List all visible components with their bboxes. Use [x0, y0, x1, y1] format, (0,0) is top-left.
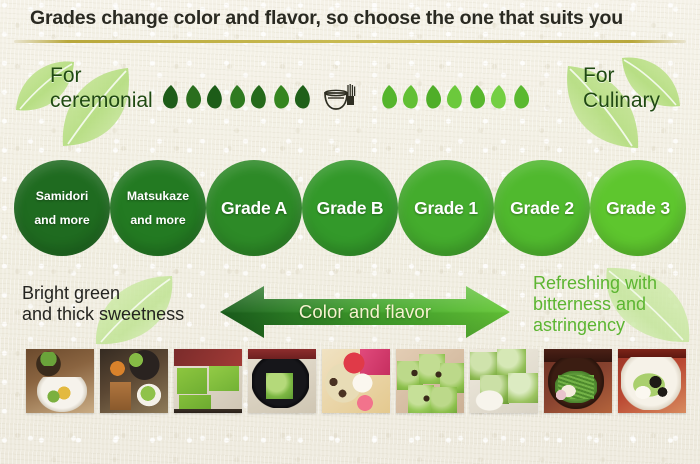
photo-detail — [634, 385, 652, 400]
tea-leaf-icon — [378, 84, 400, 110]
photo-detail — [338, 389, 347, 399]
photo-detail — [497, 349, 526, 376]
photo-detail — [657, 386, 668, 398]
photo-detail — [248, 349, 316, 359]
matcha-photo-strip — [0, 349, 700, 415]
scale-label-right: Refreshing with bitterness and astringen… — [533, 273, 700, 337]
photo-detail — [351, 372, 374, 394]
photo-thumbnail[interactable] — [100, 349, 168, 413]
page-title: Grades change color and flavor, so choos… — [30, 7, 623, 30]
scale-label-left: Bright green and thick sweetness — [22, 283, 184, 325]
grade-circle-2[interactable]: Matsukazeand more — [110, 160, 206, 256]
title-divider — [14, 40, 686, 43]
grade-circle-6[interactable]: Grade 2 — [494, 160, 590, 256]
photo-detail — [355, 394, 375, 412]
scale-right-line2: bitterness and — [533, 294, 700, 315]
tea-leaf-icon — [160, 84, 182, 110]
photo-detail — [555, 389, 567, 402]
photo-detail — [411, 369, 418, 376]
color-flavor-arrow: Color and flavor — [220, 284, 510, 340]
photo-detail — [329, 377, 339, 387]
photo-detail — [46, 390, 61, 403]
photo-thumbnail[interactable] — [248, 349, 316, 413]
grade-circle-label-primary: Samidori — [36, 190, 89, 202]
grade-circle-label-primary: Grade A — [221, 198, 287, 219]
grade-circle-label-primary: Grade 2 — [510, 198, 574, 219]
tea-bowl-whisk-icon — [322, 82, 358, 117]
photo-detail — [139, 386, 157, 401]
tea-leaf-icon — [400, 84, 422, 110]
photo-thumbnail[interactable] — [396, 349, 464, 413]
grade-circle-1[interactable]: Samidoriand more — [14, 160, 110, 256]
tea-leaf-icon — [204, 84, 226, 110]
category-culinary-line1: For — [583, 64, 693, 89]
photo-detail — [508, 373, 538, 402]
photo-detail — [435, 371, 442, 378]
photo-detail — [110, 382, 132, 410]
grade-circle-label-primary: Grade B — [317, 198, 384, 219]
scale-left-line2: and thick sweetness — [22, 304, 184, 325]
tea-leaf-icon — [422, 84, 444, 110]
tea-leaf-icon — [466, 84, 488, 110]
scale-right-line3: astringency — [533, 315, 700, 336]
photo-detail — [423, 395, 430, 402]
grade-circle-label-secondary: and more — [34, 214, 89, 226]
grade-circle-3[interactable]: Grade A — [206, 160, 302, 256]
photo-thumbnail[interactable] — [26, 349, 94, 413]
photo-detail — [37, 352, 60, 366]
tea-leaf-icon — [510, 84, 532, 110]
grade-circle-label-primary: Grade 1 — [414, 198, 478, 219]
photo-thumbnail[interactable] — [322, 349, 390, 413]
grade-circle-4[interactable]: Grade B — [302, 160, 398, 256]
grade-circle-label-secondary: and more — [130, 214, 185, 226]
scale-right-line1: Refreshing with — [533, 273, 700, 294]
photo-detail — [431, 387, 457, 413]
photo-thumbnail[interactable] — [618, 349, 686, 413]
photo-detail — [177, 368, 207, 394]
photo-detail — [127, 353, 145, 367]
grade-circle-label-primary: Matsukaze — [127, 190, 189, 202]
photo-detail — [266, 373, 293, 399]
photo-detail — [209, 366, 239, 392]
photo-detail — [174, 349, 242, 366]
tea-leaf-icon — [248, 84, 270, 110]
tea-leaf-icon — [292, 84, 314, 110]
photo-thumbnail[interactable] — [544, 349, 612, 413]
infographic-root: Grades change color and flavor, so choos… — [0, 0, 700, 464]
tea-leaf-icon — [444, 84, 466, 110]
category-culinary-line2: Culinary — [583, 89, 693, 114]
tea-leaf-icon — [182, 84, 204, 110]
scale-left-line1: Bright green — [22, 283, 184, 304]
tea-leaf-icon — [226, 84, 248, 110]
photo-thumbnail[interactable] — [174, 349, 242, 413]
grade-circle-7[interactable]: Grade 3 — [590, 160, 686, 256]
photo-detail — [174, 409, 242, 413]
tea-leaf-icon — [488, 84, 510, 110]
grade-circle-row: Samidoriand moreMatsukazeand moreGrade A… — [0, 160, 700, 258]
category-label-culinary: For Culinary — [583, 64, 693, 114]
photo-detail — [474, 389, 505, 412]
grade-circle-label-primary: Grade 3 — [606, 198, 670, 219]
photo-detail — [408, 385, 434, 413]
photo-thumbnail[interactable] — [470, 349, 538, 413]
grade-circle-5[interactable]: Grade 1 — [398, 160, 494, 256]
tea-leaf-icon — [270, 84, 292, 110]
photo-detail — [108, 361, 127, 376]
